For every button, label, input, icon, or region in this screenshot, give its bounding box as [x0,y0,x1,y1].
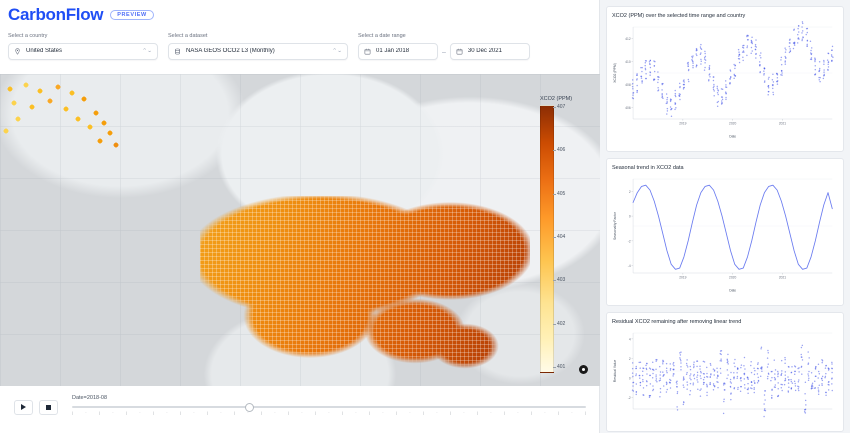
colorbar-ticks: 407406405404403402401 [557,105,583,373]
colorbar-gradient [540,105,554,373]
time-slider-tick: | [396,412,397,416]
start-date-value: 01 Jan 2018 [376,48,432,54]
usa-raster-grid [200,196,530,371]
date-range-selector[interactable]: Select a date range 01 Jan 2018 – 30 Dec… [358,34,538,60]
colorbar-title: XCO2 (PPM) [540,96,596,102]
dataset-label: Select a dataset [168,34,348,40]
svg-text:2021: 2021 [779,275,786,279]
time-slider-thumb[interactable] [245,403,254,412]
colorbar-legend: XCO2 (PPM) 407406405404403402401 [540,96,596,373]
seasonal-trend-card: Seasonal trend in XCO2 data 20-2-4201920… [606,158,844,306]
svg-text:410: 410 [625,60,631,64]
end-date-input[interactable]: 30 Dec 2021 [450,43,530,60]
time-slider-tick: · [355,412,356,416]
dataset-select[interactable]: NASA GEOS OCO2 L3 (Monthly) ⌃⌄ [168,43,348,60]
time-slider-tick: | [558,412,559,416]
time-slider-tick: · [166,412,167,416]
stop-button[interactable] [39,400,58,415]
time-slider-tick: · [220,412,221,416]
svg-text:408: 408 [625,83,631,87]
colorbar-tick: 405 [557,192,565,197]
chevron-updown-icon[interactable]: ⌃⌄ [332,49,342,54]
xco2-chart-title: XCO2 (PPM) over the selected time range … [612,13,838,19]
time-slider-tick: | [72,412,73,416]
time-slider-tick: | [153,412,154,416]
time-slider-tick: | [315,412,316,416]
time-slider-tick: · [490,412,491,416]
svg-text:412: 412 [625,37,631,41]
stop-icon [46,405,51,410]
time-slider-tick: | [234,412,235,416]
chevron-updown-icon[interactable]: ⌃⌄ [142,49,152,54]
play-button[interactable] [14,400,33,415]
database-icon [174,48,181,55]
app-title: CarbonFlow [8,5,103,25]
colorbar-tick: 407 [557,105,565,110]
calendar-icon [364,48,371,55]
location-pin-icon [14,48,21,55]
time-slider-tick: | [585,412,586,416]
preview-badge: Preview [110,10,154,21]
svg-text:Residual Value: Residual Value [613,360,617,383]
time-slider-tick: | [126,412,127,416]
time-slider-tick: | [531,412,532,416]
play-icon [21,404,26,410]
time-slider-tick: · [544,412,545,416]
svg-text:2020: 2020 [729,275,736,279]
time-slider-tick: · [112,412,113,416]
time-slider-tick: · [301,412,302,416]
xco2-timeseries-card: XCO2 (PPM) over the selected time range … [606,6,844,152]
country-select[interactable]: United States ⌃⌄ [8,43,158,60]
svg-text:-4: -4 [628,264,631,268]
time-slider-tick: · [274,412,275,416]
svg-text:0: 0 [629,215,631,219]
colorbar-tick: 403 [557,278,565,283]
time-slider-tick: | [288,412,289,416]
time-slider[interactable]: Date=2018-08 |·|·|·|·|·|·|·|·|·|·|·|·|·|… [72,406,600,408]
time-slider-tick: · [328,412,329,416]
country-label: Select a country [8,34,158,40]
svg-text:2020: 2020 [729,121,736,125]
time-slider-tick: · [193,412,194,416]
svg-text:406: 406 [625,106,631,110]
alaska-raster-cells [0,79,135,159]
time-player: Date=2018-08 |·|·|·|·|·|·|·|·|·|·|·|·|·|… [0,387,600,427]
country-selector[interactable]: Select a country United States ⌃⌄ [8,34,158,60]
colorbar-tick: 401 [557,365,565,370]
xco2-scatter-plot[interactable]: 412410408406201920202021XCO2 (PPM)Date [612,21,838,139]
residual-chart-title: Residual XCO2 remaining after removing l… [612,319,838,325]
svg-text:-2: -2 [628,239,631,243]
dataset-selector[interactable]: Select a dataset NASA GEOS OCO2 L3 (Mont… [168,34,348,60]
start-date-input[interactable]: 01 Jan 2018 [358,43,438,60]
end-date-value: 30 Dec 2021 [468,48,524,54]
seasonal-chart-title: Seasonal trend in XCO2 data [612,165,838,171]
date-range-label: Select a date range [358,34,538,40]
time-slider-tick: · [517,412,518,416]
charts-panel: XCO2 (PPM) over the selected time range … [600,0,850,433]
time-slider-tick: | [99,412,100,416]
date-range-fields: 01 Jan 2018 – 30 Dec 2021 [358,43,538,60]
svg-text:Date: Date [729,134,736,138]
svg-text:0: 0 [629,376,631,380]
time-slider-tick: | [477,412,478,416]
svg-text:XCO2 (PPM): XCO2 (PPM) [613,63,617,83]
filter-controls: Select a country United States ⌃⌄ Select… [0,34,600,70]
colorbar-tick: 406 [557,148,565,153]
time-slider-tick: | [504,412,505,416]
colorbar-tick: 404 [557,235,565,240]
colorbar-tick: 402 [557,322,565,327]
time-slider-tick: | [369,412,370,416]
time-slider-track[interactable] [72,406,586,408]
calendar-icon [456,48,463,55]
time-slider-ticks: |·|·|·|·|·|·|·|·|·|·|·|·|·|·|·|·|·|·|·| [72,412,586,416]
seasonal-line-plot[interactable]: 20-2-4201920202021Seasonality FactorDate [612,173,838,293]
time-slider-tick: · [139,412,140,416]
time-slider-tick: | [261,412,262,416]
carbonflow-app: CarbonFlow Preview Select a country Unit… [0,0,850,433]
svg-text:2021: 2021 [779,121,786,125]
time-slider-tick: · [436,412,437,416]
time-slider-tick: | [207,412,208,416]
time-slider-tick: · [85,412,86,416]
residual-card: Residual XCO2 remaining after removing l… [606,312,844,432]
time-slider-tick: · [247,412,248,416]
svg-text:-2: -2 [628,396,631,400]
residual-scatter-plot[interactable]: 420-2Residual Value [612,327,838,419]
time-slider-tick: | [342,412,343,416]
time-slider-tick: · [409,412,410,416]
time-slider-tick: | [450,412,451,416]
svg-text:2: 2 [629,357,631,361]
brand: CarbonFlow Preview [8,5,154,25]
svg-text:Seasonality Factor: Seasonality Factor [613,211,617,240]
svg-text:4: 4 [629,337,631,341]
time-slider-tick: · [463,412,464,416]
time-slider-tick: · [571,412,572,416]
svg-text:2019: 2019 [679,275,686,279]
date-range-separator: – [442,49,446,60]
time-slider-label: Date=2018-08 [72,395,107,401]
dataset-value: NASA GEOS OCO2 L3 (Monthly) [186,48,327,54]
time-slider-tick: · [382,412,383,416]
time-slider-tick: | [180,412,181,416]
time-slider-tick: | [423,412,424,416]
colorbar-body: 407406405404403402401 [540,105,596,373]
choropleth-map[interactable] [0,74,600,386]
svg-text:2019: 2019 [679,121,686,125]
country-value: United States [26,48,137,54]
svg-text:2: 2 [629,190,631,194]
map-panel: CarbonFlow Preview Select a country Unit… [0,0,600,433]
svg-text:Date: Date [729,288,736,292]
